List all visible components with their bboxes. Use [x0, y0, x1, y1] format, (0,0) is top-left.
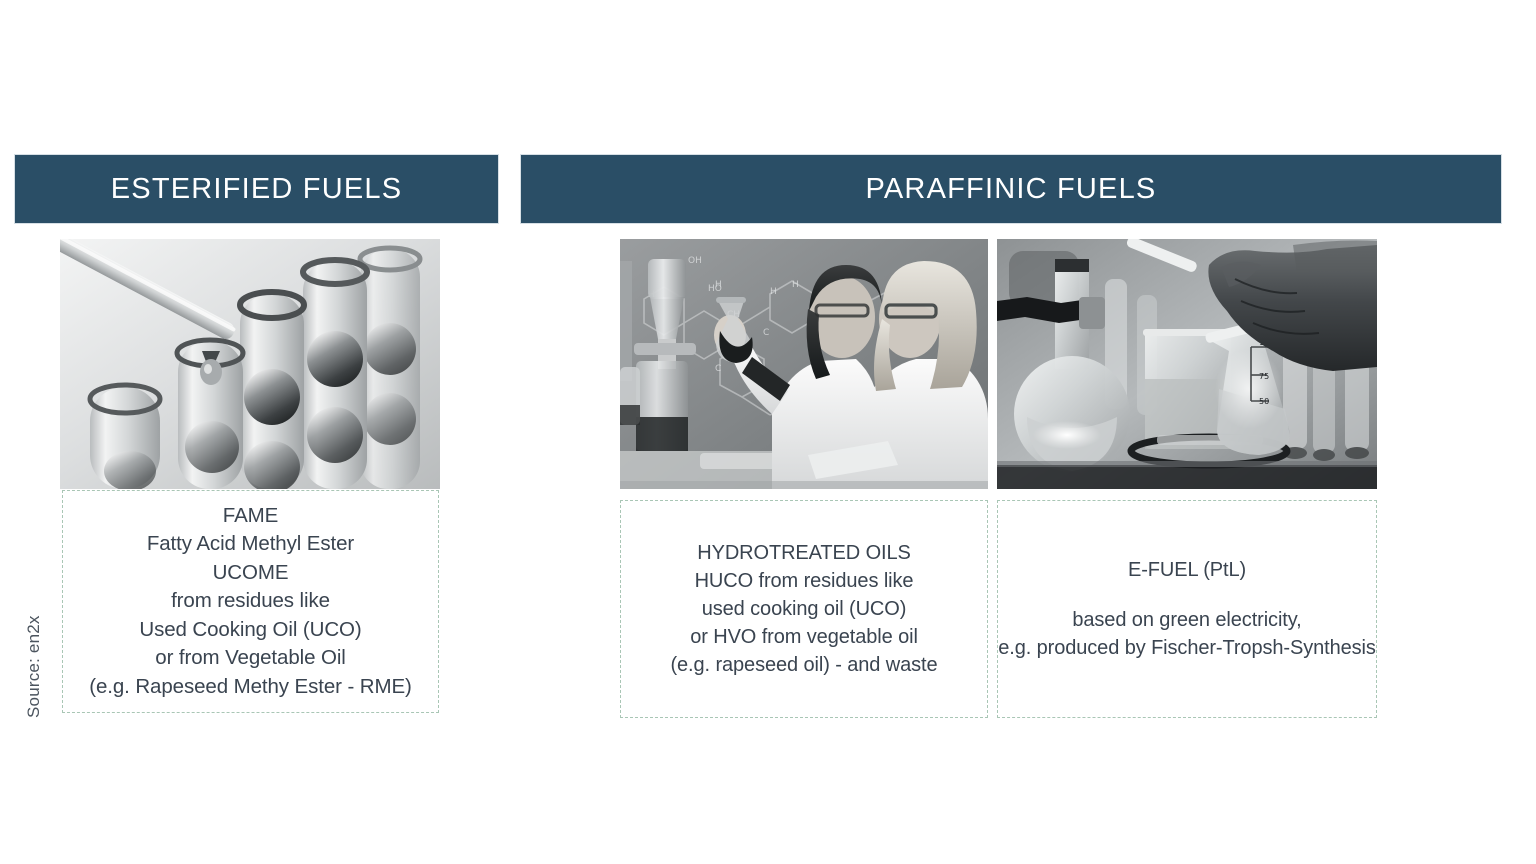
- banner-paraffinic-label: PARAFFINIC FUELS: [866, 175, 1157, 204]
- svg-text:75: 75: [1259, 372, 1269, 381]
- caption-line: Fatty Acid Methyl Ester: [147, 530, 354, 559]
- banner-paraffinic-fuels: PARAFFINIC FUELS: [521, 155, 1501, 223]
- caption-line: (e.g. rapeseed oil) - and waste: [670, 651, 937, 679]
- svg-text:H: H: [792, 280, 799, 290]
- caption-line: E-FUEL (PtL): [1128, 556, 1246, 584]
- scientists-flask-photo: OH H H HO CH C H H C H₃C: [620, 239, 988, 489]
- caption-line: from residues like: [171, 587, 330, 616]
- caption-line: e.g. produced by Fischer-Tropsh-Synthesi…: [998, 634, 1376, 662]
- svg-text:C: C: [715, 364, 721, 374]
- gloved-hand-flask-photo: 100 75 50: [997, 239, 1377, 489]
- banner-esterified-fuels: ESTERIFIED FUELS: [15, 155, 498, 223]
- caption-line: (e.g. Rapeseed Methy Ester - RME): [89, 673, 412, 702]
- caption-box-e-fuel: E-FUEL (PtL) based on green electricity,…: [997, 500, 1377, 718]
- caption-line: or HVO from vegetable oil: [690, 623, 918, 651]
- test-tubes-pipette-photo: [60, 239, 440, 489]
- caption-line: FAME: [223, 502, 278, 531]
- svg-text:C: C: [763, 328, 769, 338]
- caption-line: based on green electricity,: [1072, 606, 1301, 634]
- caption-line: HUCO from residues like: [695, 567, 914, 595]
- caption-box-hydrotreated-oils: HYDROTREATED OILS HUCO from residues lik…: [620, 500, 988, 718]
- svg-text:H: H: [770, 287, 777, 297]
- svg-text:OH: OH: [688, 256, 702, 266]
- slide-canvas: ESTERIFIED FUELS PARAFFINIC FUELS: [0, 0, 1536, 864]
- caption-box-esterified: FAME Fatty Acid Methyl Ester UCOME from …: [62, 490, 439, 713]
- caption-line: UCOME: [213, 559, 289, 588]
- caption-line: used cooking oil (UCO): [702, 595, 907, 623]
- caption-line: Used Cooking Oil (UCO): [139, 616, 361, 645]
- svg-text:HO: HO: [708, 284, 722, 294]
- caption-line: or from Vegetable Oil: [155, 644, 345, 673]
- source-label: Source: en2x: [24, 598, 46, 718]
- banner-esterified-label: ESTERIFIED FUELS: [111, 175, 403, 204]
- caption-line: HYDROTREATED OILS: [697, 539, 911, 567]
- svg-text:50: 50: [1259, 397, 1269, 406]
